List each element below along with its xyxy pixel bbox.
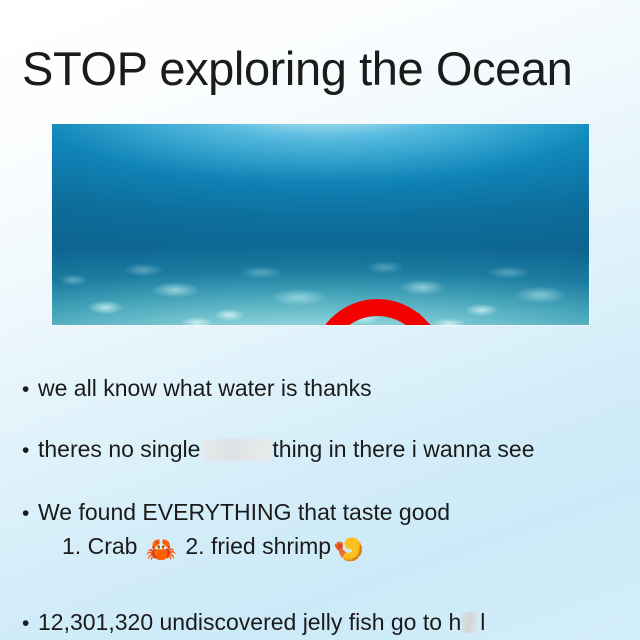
censored-word-block [203, 439, 271, 461]
numbered-sub-list: 1. Crab 🦀 2. fried shrimp🍤 [62, 531, 366, 563]
page-title: STOP exploring the Ocean [22, 40, 622, 98]
bullet-marker: • [22, 375, 38, 405]
sub-item-2-label: fried shrimp [211, 533, 331, 559]
crab-emoji: 🦀 [146, 538, 177, 563]
sub-item-2-number: 2. [185, 533, 204, 559]
meme-slide: STOP exploring the Ocean •we all know wh… [0, 0, 640, 640]
list-item: •We found EVERYTHING that taste good [22, 497, 634, 529]
bullet-marker: • [22, 609, 38, 639]
sub-item-1-number: 1. [62, 533, 81, 559]
sub-item-1-label: Crab [88, 533, 138, 559]
bullet-text-after-censor: thing in there i wanna see [272, 436, 534, 462]
bullet-marker: • [22, 436, 38, 466]
bullet-text-before-censor: 12,301,320 undiscovered jelly fish go to… [38, 609, 461, 635]
list-item: •theres no singlething in there i wanna … [22, 434, 634, 466]
list-item: •we all know what water is thanks [22, 373, 634, 405]
bullet-text-before-censor: theres no single [38, 436, 200, 462]
bullet-text: We found EVERYTHING that taste good [38, 499, 450, 525]
censored-letter-block [462, 612, 477, 633]
fried-shrimp-emoji: 🍤 [333, 538, 364, 563]
bullet-text-after-censor: l [480, 609, 485, 635]
bullet-text: we all know what water is thanks [38, 375, 372, 401]
bullet-marker: • [22, 499, 38, 529]
prohibition-sign-icon [312, 299, 443, 325]
underwater-ocean-photo [52, 124, 589, 325]
list-item: •12,301,320 undiscovered jelly fish go t… [22, 607, 634, 639]
